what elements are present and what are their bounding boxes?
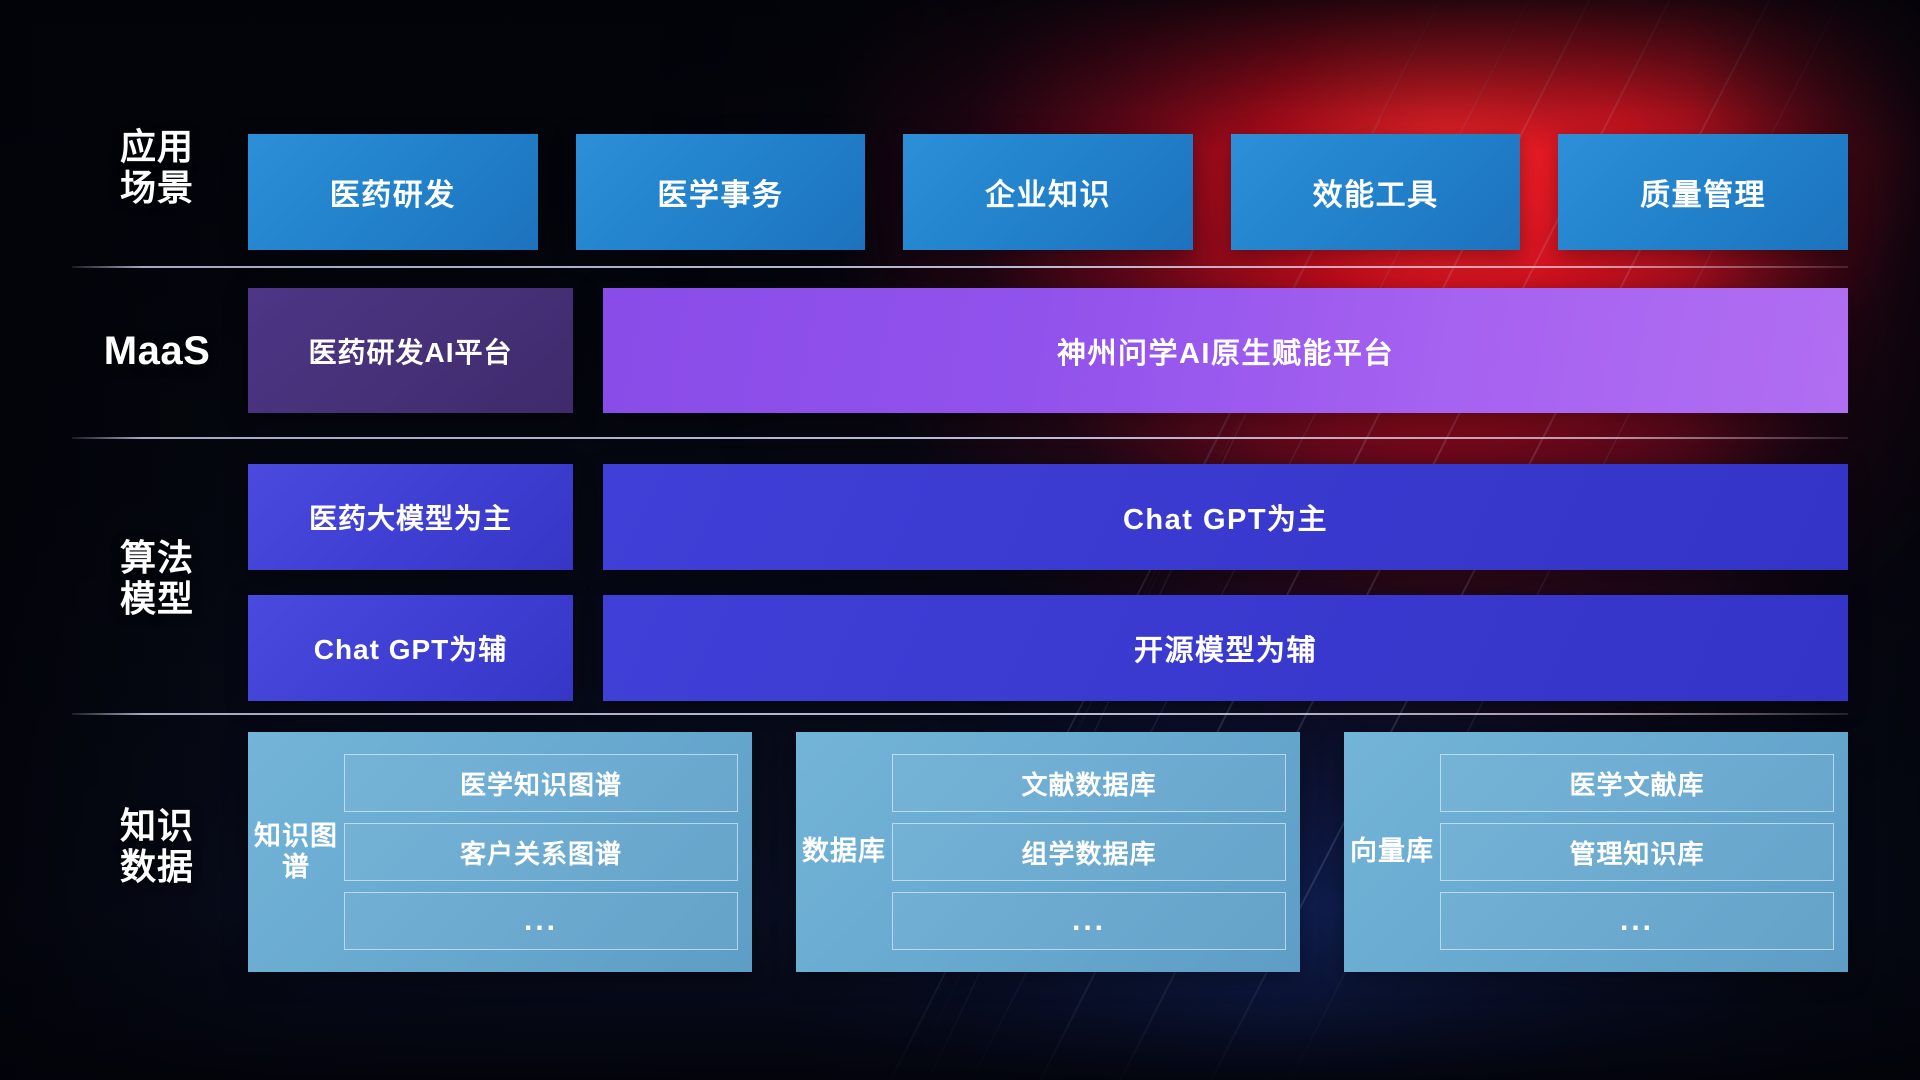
knowledge-item[interactable]: 组学数据库 <box>892 823 1286 881</box>
tier-label-algorithm-model: 算法 模型 <box>72 537 242 619</box>
knowledge-group-vertical-label: 向量库 <box>1344 746 1440 958</box>
knowledge-data-row: 知识图谱 医学知识图谱 客户关系图谱 ... 数据库 文献数据库 组学数据库 .… <box>248 732 1848 972</box>
algorithm-model-row-primary: 医药大模型为主 Chat GPT为主 <box>248 464 1848 570</box>
tier-label-knowledge-data: 知识 数据 <box>72 805 242 887</box>
algo-box-pharma-llm-primary[interactable]: 医药大模型为主 <box>248 464 573 570</box>
algo-box-label: Chat GPT为辅 <box>314 628 508 668</box>
divider-3 <box>72 713 1848 715</box>
algo-box-label: 医药大模型为主 <box>309 497 512 537</box>
knowledge-item-more[interactable]: ... <box>892 892 1286 950</box>
maas-box-label: 医药研发AI平台 <box>308 331 512 371</box>
divider-2 <box>72 437 1848 439</box>
algo-box-label: 开源模型为辅 <box>1134 627 1317 669</box>
diagram-content: 应用 场景 医药研发 医学事务 企业知识 效能工具 质量管理 MaaS 医药研发… <box>0 0 1920 1080</box>
maas-box-label: 神州问学AI原生赋能平台 <box>1057 330 1394 372</box>
knowledge-item-more[interactable]: ... <box>1440 892 1834 950</box>
algorithm-model-row: 医药大模型为主 Chat GPT为主 Chat GPT为辅 开源模型为辅 <box>248 464 1848 701</box>
algorithm-model-row-secondary: Chat GPT为辅 开源模型为辅 <box>248 595 1848 701</box>
app-box-medical-affairs[interactable]: 医学事务 <box>576 134 866 250</box>
knowledge-item-more[interactable]: ... <box>344 892 738 950</box>
knowledge-group-knowledge-graph[interactable]: 知识图谱 医学知识图谱 客户关系图谱 ... <box>248 732 752 972</box>
knowledge-group-database[interactable]: 数据库 文献数据库 组学数据库 ... <box>796 732 1300 972</box>
tier-label-application-scenarios: 应用 场景 <box>72 126 242 208</box>
knowledge-item[interactable]: 医学文献库 <box>1440 754 1834 812</box>
knowledge-group-items: 医学知识图谱 客户关系图谱 ... <box>344 746 738 958</box>
app-box-pharma-rd[interactable]: 医药研发 <box>248 134 538 250</box>
divider-1 <box>72 266 1848 268</box>
app-box-efficiency-tools[interactable]: 效能工具 <box>1231 134 1521 250</box>
algo-box-chatgpt-primary[interactable]: Chat GPT为主 <box>603 464 1848 570</box>
app-box-label: 质量管理 <box>1640 170 1766 214</box>
application-scenarios-row: 医药研发 医学事务 企业知识 效能工具 质量管理 <box>248 134 1848 250</box>
architecture-diagram: 应用 场景 医药研发 医学事务 企业知识 效能工具 质量管理 MaaS 医药研发… <box>0 0 1920 1080</box>
knowledge-group-vertical-label: 知识图谱 <box>248 746 344 958</box>
knowledge-item[interactable]: 管理知识库 <box>1440 823 1834 881</box>
algo-box-opensource-secondary[interactable]: 开源模型为辅 <box>603 595 1848 701</box>
maas-box-shenzhou-wenxue-platform[interactable]: 神州问学AI原生赋能平台 <box>603 288 1848 413</box>
app-box-label: 企业知识 <box>985 170 1111 214</box>
knowledge-group-vertical-label: 数据库 <box>796 746 892 958</box>
algo-box-label: Chat GPT为主 <box>1123 496 1328 538</box>
tier-label-maas: MaaS <box>72 329 242 375</box>
app-box-label: 效能工具 <box>1313 170 1439 214</box>
knowledge-group-items: 医学文献库 管理知识库 ... <box>1440 746 1834 958</box>
knowledge-item[interactable]: 医学知识图谱 <box>344 754 738 812</box>
app-box-quality-management[interactable]: 质量管理 <box>1558 134 1848 250</box>
app-box-label: 医药研发 <box>330 170 456 214</box>
algo-box-chatgpt-secondary[interactable]: Chat GPT为辅 <box>248 595 573 701</box>
knowledge-item[interactable]: 文献数据库 <box>892 754 1286 812</box>
knowledge-item[interactable]: 客户关系图谱 <box>344 823 738 881</box>
app-box-enterprise-knowledge[interactable]: 企业知识 <box>903 134 1193 250</box>
knowledge-group-vector-store[interactable]: 向量库 医学文献库 管理知识库 ... <box>1344 732 1848 972</box>
app-box-label: 医学事务 <box>657 170 783 214</box>
maas-row: 医药研发AI平台 神州问学AI原生赋能平台 <box>248 288 1848 413</box>
maas-box-pharma-ai-platform[interactable]: 医药研发AI平台 <box>248 288 573 413</box>
knowledge-group-items: 文献数据库 组学数据库 ... <box>892 746 1286 958</box>
